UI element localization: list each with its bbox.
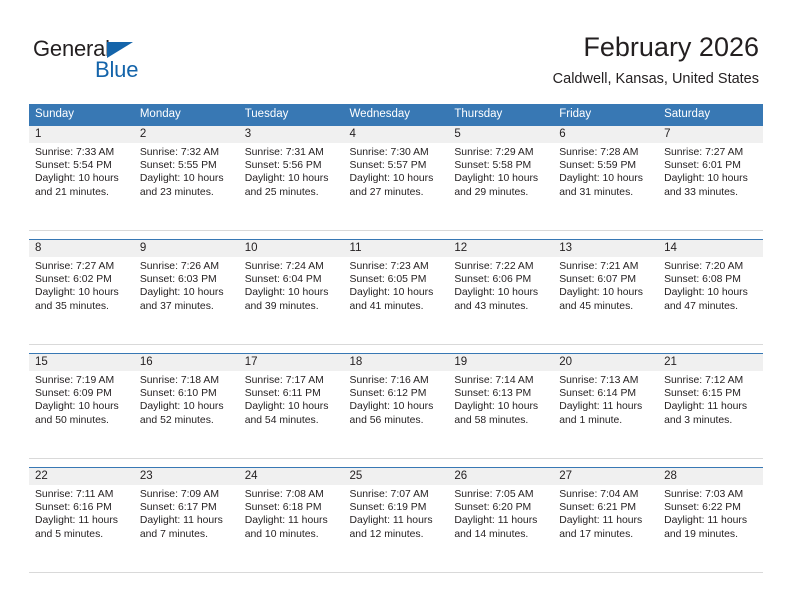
sunset-text: Sunset: 6:14 PM	[559, 387, 653, 400]
daylight-text: Daylight: 10 hours and 27 minutes.	[350, 172, 444, 198]
day-number: 28	[658, 468, 763, 485]
calendar-body: 1 Sunrise: 7:33 AM Sunset: 5:54 PM Dayli…	[29, 126, 763, 573]
day-number: 9	[134, 240, 239, 257]
daylight-text: Daylight: 10 hours and 33 minutes.	[664, 172, 758, 198]
calendar-week-row: 15 Sunrise: 7:19 AM Sunset: 6:09 PM Dayl…	[29, 354, 763, 459]
daylight-text: Daylight: 11 hours and 7 minutes.	[140, 514, 234, 540]
sunset-text: Sunset: 6:05 PM	[350, 273, 444, 286]
sunrise-text: Sunrise: 7:30 AM	[350, 146, 444, 159]
sunset-text: Sunset: 5:59 PM	[559, 159, 653, 172]
day-info: Sunrise: 7:29 AM Sunset: 5:58 PM Dayligh…	[448, 143, 553, 199]
sunset-text: Sunset: 6:02 PM	[35, 273, 129, 286]
day-info: Sunrise: 7:13 AM Sunset: 6:14 PM Dayligh…	[553, 371, 658, 427]
calendar-week-row: 22 Sunrise: 7:11 AM Sunset: 6:16 PM Dayl…	[29, 468, 763, 573]
sunset-text: Sunset: 6:12 PM	[350, 387, 444, 400]
day-number: 17	[239, 354, 344, 371]
weekday-header-row: Sunday Monday Tuesday Wednesday Thursday…	[29, 104, 763, 126]
sunrise-text: Sunrise: 7:17 AM	[245, 374, 339, 387]
sunrise-text: Sunrise: 7:09 AM	[140, 488, 234, 501]
sunrise-text: Sunrise: 7:11 AM	[35, 488, 129, 501]
sunrise-text: Sunrise: 7:24 AM	[245, 260, 339, 273]
day-cell[interactable]: 17 Sunrise: 7:17 AM Sunset: 6:11 PM Dayl…	[239, 354, 344, 459]
sunrise-text: Sunrise: 7:32 AM	[140, 146, 234, 159]
sunset-text: Sunset: 6:09 PM	[35, 387, 129, 400]
day-info: Sunrise: 7:31 AM Sunset: 5:56 PM Dayligh…	[239, 143, 344, 199]
day-info: Sunrise: 7:12 AM Sunset: 6:15 PM Dayligh…	[658, 371, 763, 427]
sunset-text: Sunset: 5:54 PM	[35, 159, 129, 172]
daylight-text: Daylight: 10 hours and 23 minutes.	[140, 172, 234, 198]
day-number: 12	[448, 240, 553, 257]
day-cell[interactable]: 3 Sunrise: 7:31 AM Sunset: 5:56 PM Dayli…	[239, 126, 344, 231]
daylight-text: Daylight: 10 hours and 47 minutes.	[664, 286, 758, 312]
daylight-text: Daylight: 10 hours and 25 minutes.	[245, 172, 339, 198]
day-info: Sunrise: 7:20 AM Sunset: 6:08 PM Dayligh…	[658, 257, 763, 313]
day-cell[interactable]: 9 Sunrise: 7:26 AM Sunset: 6:03 PM Dayli…	[134, 240, 239, 345]
day-cell[interactable]: 27 Sunrise: 7:04 AM Sunset: 6:21 PM Dayl…	[553, 468, 658, 573]
daylight-text: Daylight: 10 hours and 21 minutes.	[35, 172, 129, 198]
day-cell[interactable]: 8 Sunrise: 7:27 AM Sunset: 6:02 PM Dayli…	[29, 240, 134, 345]
sunrise-text: Sunrise: 7:29 AM	[454, 146, 548, 159]
day-cell[interactable]: 20 Sunrise: 7:13 AM Sunset: 6:14 PM Dayl…	[553, 354, 658, 459]
week-spacer-row	[29, 345, 763, 354]
daylight-text: Daylight: 10 hours and 37 minutes.	[140, 286, 234, 312]
daylight-text: Daylight: 10 hours and 29 minutes.	[454, 172, 548, 198]
sunrise-text: Sunrise: 7:28 AM	[559, 146, 653, 159]
sunrise-text: Sunrise: 7:27 AM	[664, 146, 758, 159]
day-info: Sunrise: 7:22 AM Sunset: 6:06 PM Dayligh…	[448, 257, 553, 313]
sunset-text: Sunset: 6:20 PM	[454, 501, 548, 514]
page-header: General Blue February 2026 Caldwell, Kan…	[33, 30, 759, 98]
day-cell[interactable]: 19 Sunrise: 7:14 AM Sunset: 6:13 PM Dayl…	[448, 354, 553, 459]
daylight-text: Daylight: 10 hours and 54 minutes.	[245, 400, 339, 426]
sunrise-text: Sunrise: 7:22 AM	[454, 260, 548, 273]
sunrise-text: Sunrise: 7:16 AM	[350, 374, 444, 387]
day-number: 21	[658, 354, 763, 371]
sunset-text: Sunset: 6:16 PM	[35, 501, 129, 514]
day-number: 23	[134, 468, 239, 485]
sunset-text: Sunset: 6:10 PM	[140, 387, 234, 400]
sunrise-text: Sunrise: 7:20 AM	[664, 260, 758, 273]
sunset-text: Sunset: 6:07 PM	[559, 273, 653, 286]
day-cell[interactable]: 15 Sunrise: 7:19 AM Sunset: 6:09 PM Dayl…	[29, 354, 134, 459]
sunrise-text: Sunrise: 7:03 AM	[664, 488, 758, 501]
week-spacer	[29, 459, 763, 468]
sunrise-text: Sunrise: 7:27 AM	[35, 260, 129, 273]
sunset-text: Sunset: 6:01 PM	[664, 159, 758, 172]
day-cell[interactable]: 2 Sunrise: 7:32 AM Sunset: 5:55 PM Dayli…	[134, 126, 239, 231]
week-spacer	[29, 231, 763, 240]
day-cell[interactable]: 4 Sunrise: 7:30 AM Sunset: 5:57 PM Dayli…	[344, 126, 449, 231]
day-info: Sunrise: 7:32 AM Sunset: 5:55 PM Dayligh…	[134, 143, 239, 199]
day-number: 10	[239, 240, 344, 257]
day-number: 1	[29, 126, 134, 143]
day-number: 8	[29, 240, 134, 257]
sunrise-text: Sunrise: 7:14 AM	[454, 374, 548, 387]
sunrise-text: Sunrise: 7:19 AM	[35, 374, 129, 387]
day-cell[interactable]: 28 Sunrise: 7:03 AM Sunset: 6:22 PM Dayl…	[658, 468, 763, 573]
day-info: Sunrise: 7:08 AM Sunset: 6:18 PM Dayligh…	[239, 485, 344, 541]
day-cell[interactable]: 22 Sunrise: 7:11 AM Sunset: 6:16 PM Dayl…	[29, 468, 134, 573]
page-subtitle: Caldwell, Kansas, United States	[553, 68, 759, 90]
daylight-text: Daylight: 10 hours and 52 minutes.	[140, 400, 234, 426]
sunset-text: Sunset: 6:19 PM	[350, 501, 444, 514]
daylight-text: Daylight: 10 hours and 45 minutes.	[559, 286, 653, 312]
day-number: 26	[448, 468, 553, 485]
day-info: Sunrise: 7:14 AM Sunset: 6:13 PM Dayligh…	[448, 371, 553, 427]
sunset-text: Sunset: 6:22 PM	[664, 501, 758, 514]
sunset-text: Sunset: 6:03 PM	[140, 273, 234, 286]
sunrise-text: Sunrise: 7:07 AM	[350, 488, 444, 501]
day-number: 7	[658, 126, 763, 143]
day-number: 4	[344, 126, 449, 143]
daylight-text: Daylight: 10 hours and 43 minutes.	[454, 286, 548, 312]
daylight-text: Daylight: 11 hours and 19 minutes.	[664, 514, 758, 540]
weekday-header-tuesday: Tuesday	[239, 104, 344, 126]
daylight-text: Daylight: 10 hours and 41 minutes.	[350, 286, 444, 312]
sunrise-text: Sunrise: 7:18 AM	[140, 374, 234, 387]
day-cell[interactable]: 5 Sunrise: 7:29 AM Sunset: 5:58 PM Dayli…	[448, 126, 553, 231]
day-number: 19	[448, 354, 553, 371]
day-number: 16	[134, 354, 239, 371]
day-number: 27	[553, 468, 658, 485]
day-number: 5	[448, 126, 553, 143]
day-number: 3	[239, 126, 344, 143]
sunset-text: Sunset: 5:57 PM	[350, 159, 444, 172]
day-info: Sunrise: 7:26 AM Sunset: 6:03 PM Dayligh…	[134, 257, 239, 313]
day-info: Sunrise: 7:33 AM Sunset: 5:54 PM Dayligh…	[29, 143, 134, 199]
week-spacer-row	[29, 231, 763, 240]
sunrise-text: Sunrise: 7:05 AM	[454, 488, 548, 501]
daylight-text: Daylight: 10 hours and 35 minutes.	[35, 286, 129, 312]
sunrise-text: Sunrise: 7:12 AM	[664, 374, 758, 387]
daylight-text: Daylight: 11 hours and 12 minutes.	[350, 514, 444, 540]
sunset-text: Sunset: 6:13 PM	[454, 387, 548, 400]
day-cell[interactable]: 21 Sunrise: 7:12 AM Sunset: 6:15 PM Dayl…	[658, 354, 763, 459]
day-cell[interactable]: 25 Sunrise: 7:07 AM Sunset: 6:19 PM Dayl…	[344, 468, 449, 573]
day-info: Sunrise: 7:11 AM Sunset: 6:16 PM Dayligh…	[29, 485, 134, 541]
sunset-text: Sunset: 6:11 PM	[245, 387, 339, 400]
day-info: Sunrise: 7:16 AM Sunset: 6:12 PM Dayligh…	[344, 371, 449, 427]
day-info: Sunrise: 7:05 AM Sunset: 6:20 PM Dayligh…	[448, 485, 553, 541]
logo-triangle-icon	[107, 42, 133, 58]
sunrise-text: Sunrise: 7:13 AM	[559, 374, 653, 387]
sunrise-sunset-calendar: Sunday Monday Tuesday Wednesday Thursday…	[29, 104, 763, 573]
day-cell[interactable]: 26 Sunrise: 7:05 AM Sunset: 6:20 PM Dayl…	[448, 468, 553, 573]
day-number: 25	[344, 468, 449, 485]
title-block: February 2026 Caldwell, Kansas, United S…	[553, 30, 759, 90]
sunset-text: Sunset: 5:56 PM	[245, 159, 339, 172]
day-info: Sunrise: 7:27 AM Sunset: 6:02 PM Dayligh…	[29, 257, 134, 313]
sunrise-text: Sunrise: 7:23 AM	[350, 260, 444, 273]
day-number: 13	[553, 240, 658, 257]
sunrise-text: Sunrise: 7:08 AM	[245, 488, 339, 501]
day-number: 20	[553, 354, 658, 371]
day-cell[interactable]: 14 Sunrise: 7:20 AM Sunset: 6:08 PM Dayl…	[658, 240, 763, 345]
day-info: Sunrise: 7:24 AM Sunset: 6:04 PM Dayligh…	[239, 257, 344, 313]
day-number: 15	[29, 354, 134, 371]
daylight-text: Daylight: 10 hours and 56 minutes.	[350, 400, 444, 426]
page-title: February 2026	[553, 30, 759, 64]
weekday-header-wednesday: Wednesday	[344, 104, 449, 126]
day-cell[interactable]: 12 Sunrise: 7:22 AM Sunset: 6:06 PM Dayl…	[448, 240, 553, 345]
sunrise-text: Sunrise: 7:26 AM	[140, 260, 234, 273]
weekday-header-saturday: Saturday	[658, 104, 763, 126]
daylight-text: Daylight: 10 hours and 31 minutes.	[559, 172, 653, 198]
day-number: 22	[29, 468, 134, 485]
sunrise-text: Sunrise: 7:31 AM	[245, 146, 339, 159]
general-blue-logo[interactable]: General Blue	[33, 36, 253, 92]
day-cell[interactable]: 18 Sunrise: 7:16 AM Sunset: 6:12 PM Dayl…	[344, 354, 449, 459]
day-info: Sunrise: 7:17 AM Sunset: 6:11 PM Dayligh…	[239, 371, 344, 427]
day-number: 11	[344, 240, 449, 257]
daylight-text: Daylight: 11 hours and 17 minutes.	[559, 514, 653, 540]
day-info: Sunrise: 7:09 AM Sunset: 6:17 PM Dayligh…	[134, 485, 239, 541]
sunrise-text: Sunrise: 7:21 AM	[559, 260, 653, 273]
weekday-header-sunday: Sunday	[29, 104, 134, 126]
sunset-text: Sunset: 6:15 PM	[664, 387, 758, 400]
day-number: 14	[658, 240, 763, 257]
day-number: 24	[239, 468, 344, 485]
day-info: Sunrise: 7:23 AM Sunset: 6:05 PM Dayligh…	[344, 257, 449, 313]
sunset-text: Sunset: 6:17 PM	[140, 501, 234, 514]
logo-text-blue: Blue	[95, 57, 138, 83]
day-cell[interactable]: 24 Sunrise: 7:08 AM Sunset: 6:18 PM Dayl…	[239, 468, 344, 573]
calendar-week-row: 8 Sunrise: 7:27 AM Sunset: 6:02 PM Dayli…	[29, 240, 763, 345]
day-cell[interactable]: 10 Sunrise: 7:24 AM Sunset: 6:04 PM Dayl…	[239, 240, 344, 345]
weekday-header-friday: Friday	[553, 104, 658, 126]
weekday-header-monday: Monday	[134, 104, 239, 126]
sunset-text: Sunset: 6:06 PM	[454, 273, 548, 286]
day-cell[interactable]: 1 Sunrise: 7:33 AM Sunset: 5:54 PM Dayli…	[29, 126, 134, 231]
daylight-text: Daylight: 10 hours and 39 minutes.	[245, 286, 339, 312]
day-info: Sunrise: 7:28 AM Sunset: 5:59 PM Dayligh…	[553, 143, 658, 199]
daylight-text: Daylight: 10 hours and 50 minutes.	[35, 400, 129, 426]
daylight-text: Daylight: 11 hours and 3 minutes.	[664, 400, 758, 426]
daylight-text: Daylight: 11 hours and 1 minute.	[559, 400, 653, 426]
daylight-text: Daylight: 11 hours and 14 minutes.	[454, 514, 548, 540]
week-spacer	[29, 345, 763, 354]
day-info: Sunrise: 7:21 AM Sunset: 6:07 PM Dayligh…	[553, 257, 658, 313]
day-number: 18	[344, 354, 449, 371]
day-cell[interactable]: 6 Sunrise: 7:28 AM Sunset: 5:59 PM Dayli…	[553, 126, 658, 231]
sunrise-text: Sunrise: 7:33 AM	[35, 146, 129, 159]
day-cell[interactable]: 7 Sunrise: 7:27 AM Sunset: 6:01 PM Dayli…	[658, 126, 763, 231]
day-info: Sunrise: 7:07 AM Sunset: 6:19 PM Dayligh…	[344, 485, 449, 541]
day-info: Sunrise: 7:18 AM Sunset: 6:10 PM Dayligh…	[134, 371, 239, 427]
day-info: Sunrise: 7:03 AM Sunset: 6:22 PM Dayligh…	[658, 485, 763, 541]
daylight-text: Daylight: 11 hours and 5 minutes.	[35, 514, 129, 540]
day-info: Sunrise: 7:27 AM Sunset: 6:01 PM Dayligh…	[658, 143, 763, 199]
sunset-text: Sunset: 6:08 PM	[664, 273, 758, 286]
daylight-text: Daylight: 10 hours and 58 minutes.	[454, 400, 548, 426]
day-info: Sunrise: 7:30 AM Sunset: 5:57 PM Dayligh…	[344, 143, 449, 199]
day-cell[interactable]: 11 Sunrise: 7:23 AM Sunset: 6:05 PM Dayl…	[344, 240, 449, 345]
day-cell[interactable]: 23 Sunrise: 7:09 AM Sunset: 6:17 PM Dayl…	[134, 468, 239, 573]
sunset-text: Sunset: 6:18 PM	[245, 501, 339, 514]
day-info: Sunrise: 7:19 AM Sunset: 6:09 PM Dayligh…	[29, 371, 134, 427]
day-cell[interactable]: 13 Sunrise: 7:21 AM Sunset: 6:07 PM Dayl…	[553, 240, 658, 345]
sunset-text: Sunset: 6:21 PM	[559, 501, 653, 514]
sunset-text: Sunset: 6:04 PM	[245, 273, 339, 286]
daylight-text: Daylight: 11 hours and 10 minutes.	[245, 514, 339, 540]
sunset-text: Sunset: 5:58 PM	[454, 159, 548, 172]
calendar-page: General Blue February 2026 Caldwell, Kan…	[0, 0, 792, 612]
day-number: 2	[134, 126, 239, 143]
sunset-text: Sunset: 5:55 PM	[140, 159, 234, 172]
week-spacer-row	[29, 459, 763, 468]
day-cell[interactable]: 16 Sunrise: 7:18 AM Sunset: 6:10 PM Dayl…	[134, 354, 239, 459]
weekday-header-thursday: Thursday	[448, 104, 553, 126]
calendar-week-row: 1 Sunrise: 7:33 AM Sunset: 5:54 PM Dayli…	[29, 126, 763, 231]
day-number: 6	[553, 126, 658, 143]
day-info: Sunrise: 7:04 AM Sunset: 6:21 PM Dayligh…	[553, 485, 658, 541]
sunrise-text: Sunrise: 7:04 AM	[559, 488, 653, 501]
